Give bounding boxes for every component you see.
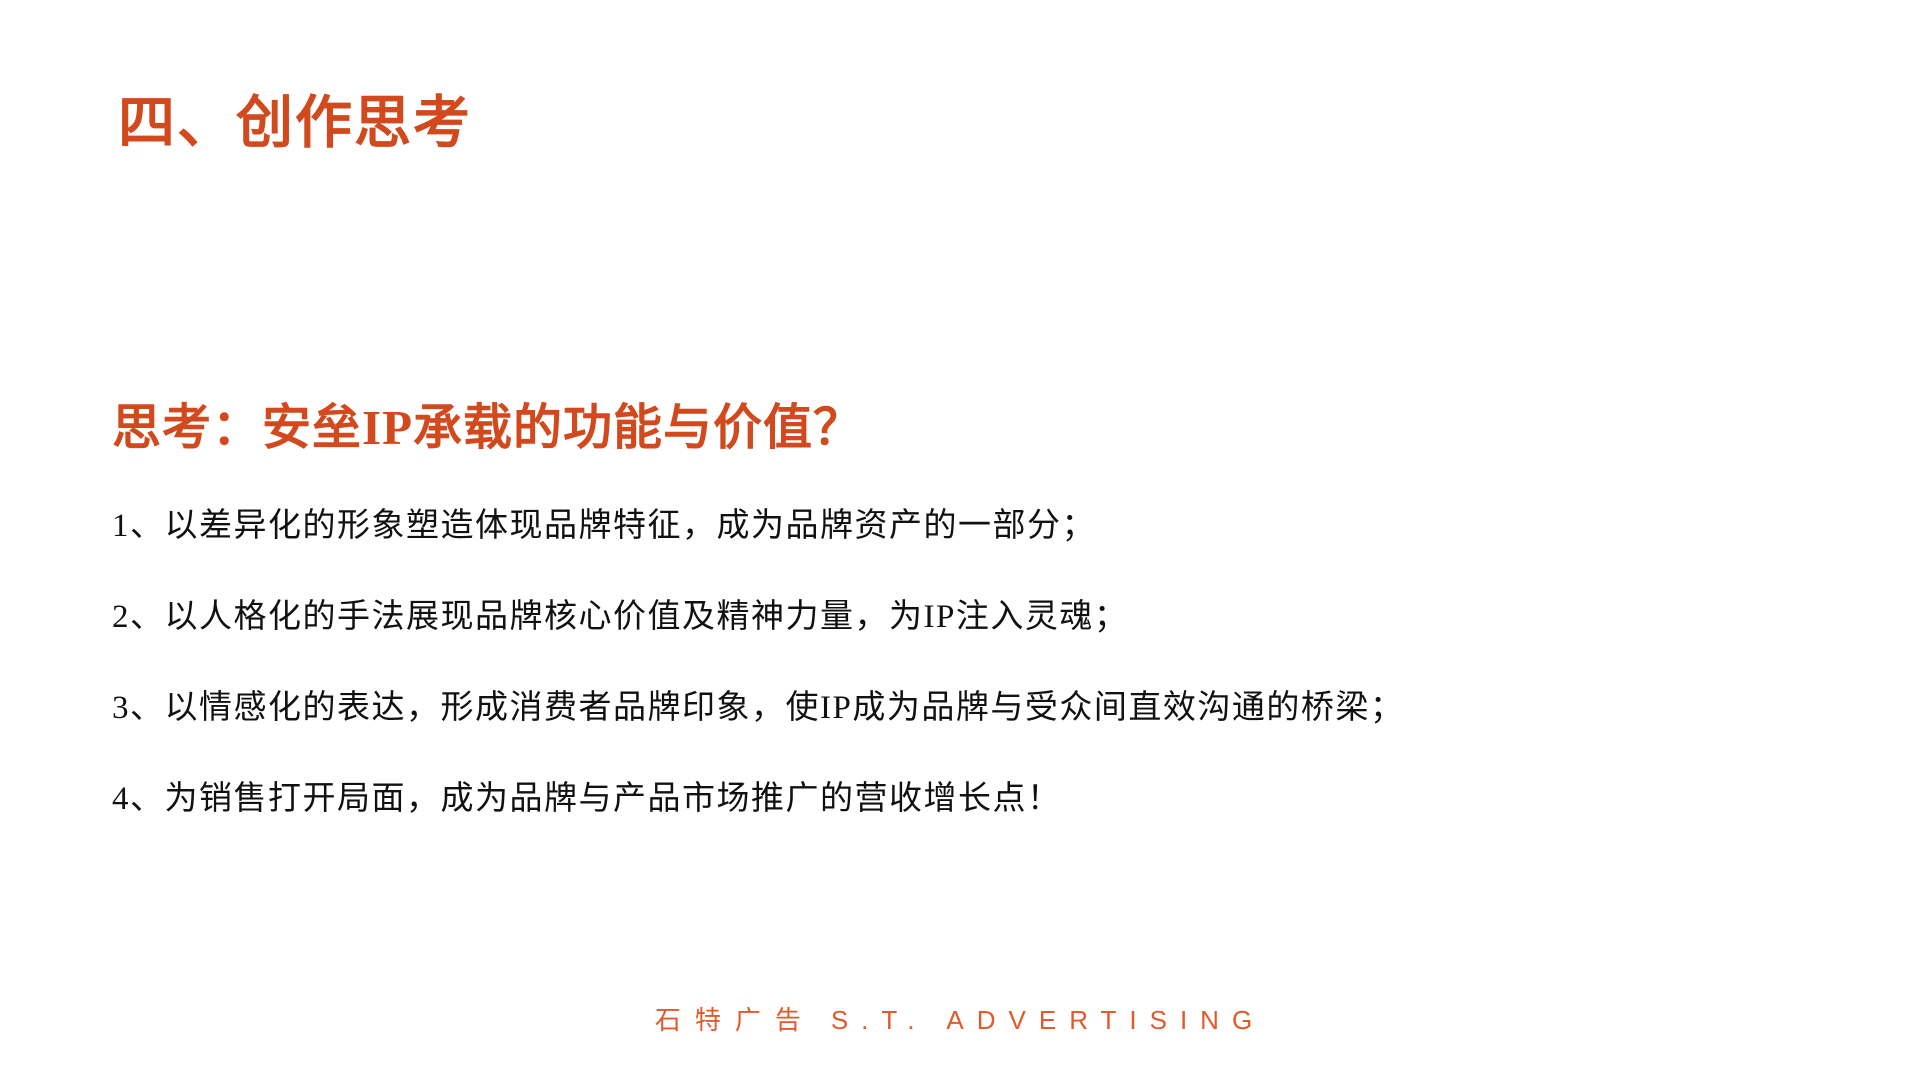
question-heading: 思考：安垒IP承载的功能与价值？ — [112, 400, 863, 456]
footer-company-cn: 石特广告 — [655, 1005, 815, 1035]
list-item: 4、为销售打开局面，成为品牌与产品市场推广的营收增长点！ — [112, 783, 1832, 816]
footer-company-en: S.T. ADVERTISING — [831, 1005, 1265, 1035]
points-list: 1、以差异化的形象塑造体现品牌特征，成为品牌资产的一部分； 2、以人格化的手法展… — [112, 510, 1832, 816]
slide-footer: 石特广告S.T. ADVERTISING — [0, 1000, 1920, 1037]
footer-branding: 石特广告S.T. ADVERTISING — [655, 1000, 1265, 1037]
list-item: 3、以情感化的表达，形成消费者品牌印象，使IP成为品牌与受众间直效沟通的桥梁； — [112, 692, 1832, 725]
slide-canvas: 四、创作思考 思考：安垒IP承载的功能与价值？ 1、以差异化的形象塑造体现品牌特… — [0, 0, 1920, 1080]
list-item: 2、以人格化的手法展现品牌核心价值及精神力量，为IP注入灵魂； — [112, 601, 1832, 634]
page-title: 四、创作思考 — [118, 92, 472, 155]
list-item: 1、以差异化的形象塑造体现品牌特征，成为品牌资产的一部分； — [112, 510, 1832, 543]
